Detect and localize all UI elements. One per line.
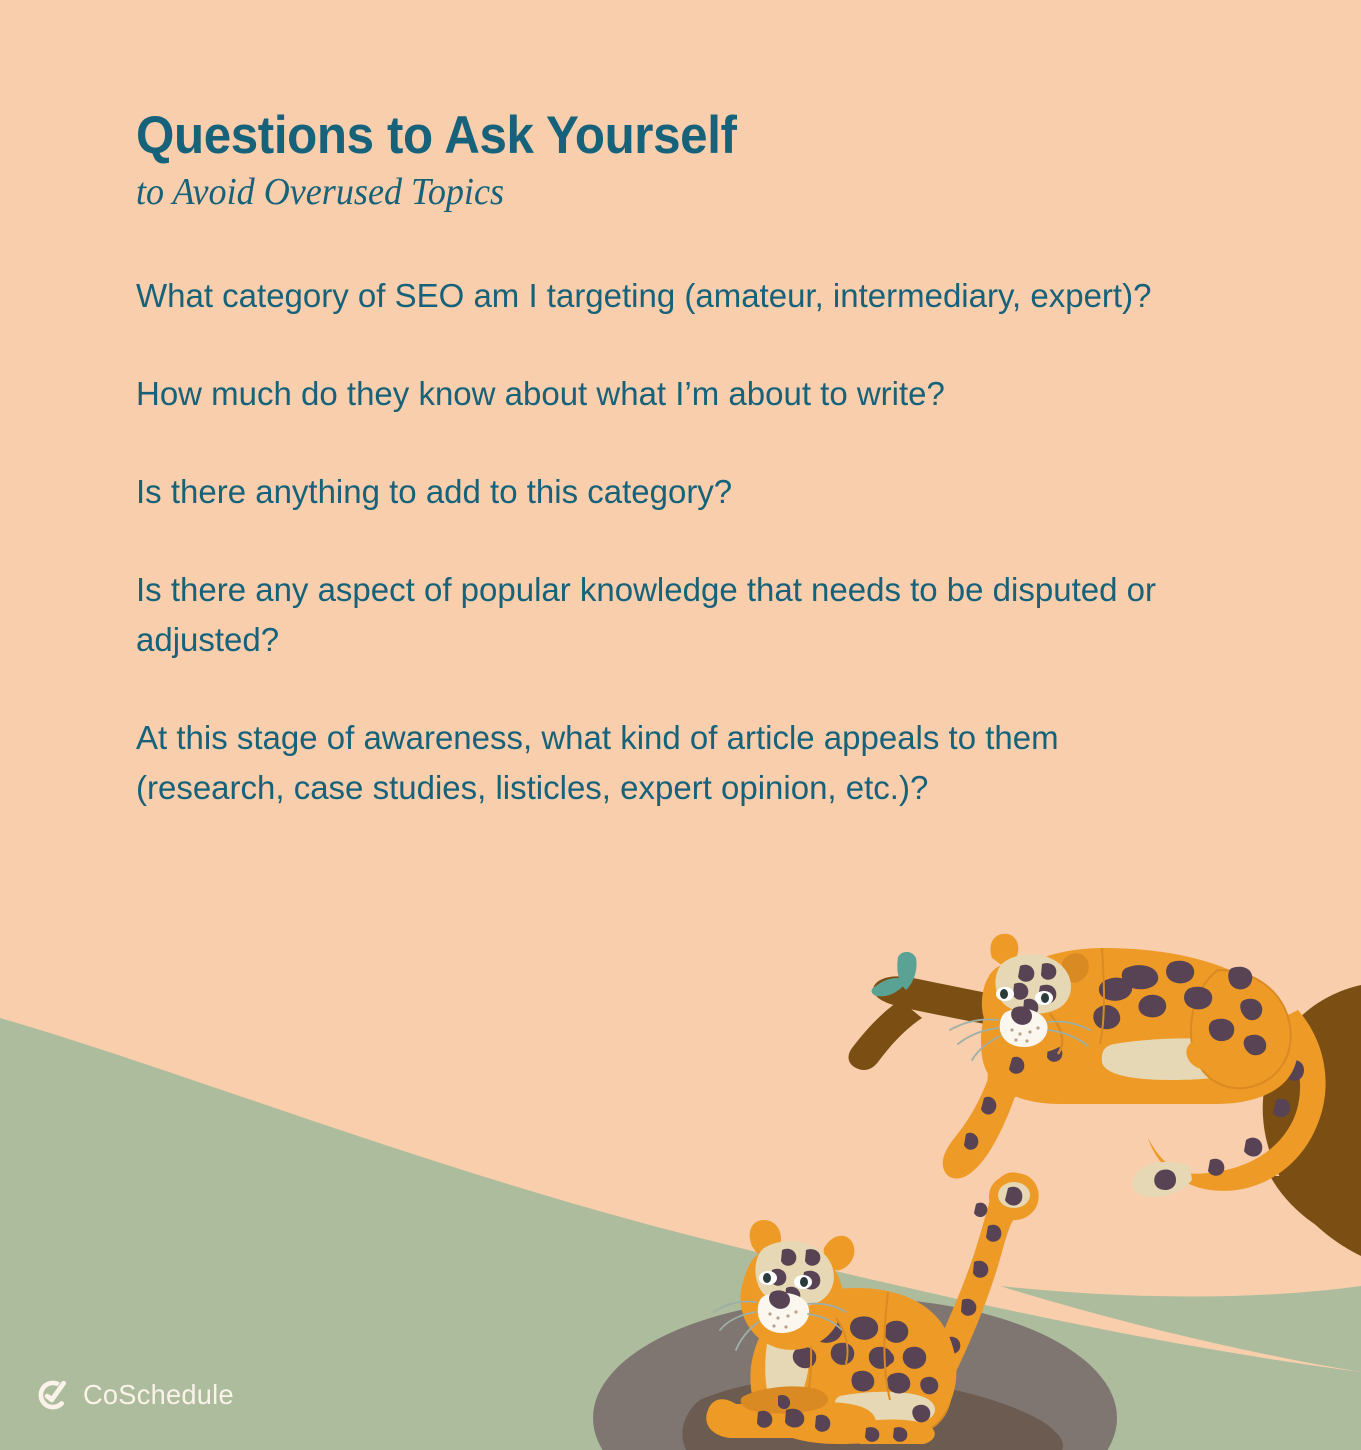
questions-list: What category of SEO am I targeting (ama…: [136, 272, 1198, 814]
poster-canvas: Questions to Ask Yourself to Avoid Overu…: [0, 0, 1361, 1450]
question-item: Is there any aspect of popular knowledge…: [136, 566, 1182, 666]
page-title: Questions to Ask Yourself: [136, 108, 1066, 164]
coschedule-logo[interactable]: CoSchedule: [36, 1378, 239, 1412]
question-item: At this stage of awareness, what kind of…: [136, 714, 1182, 814]
coschedule-check-circle-icon: [36, 1378, 70, 1412]
page-subtitle: to Avoid Overused Topics: [136, 172, 1086, 214]
question-item: How much do they know about what I’m abo…: [136, 370, 1182, 420]
coschedule-wordmark: CoSchedule: [83, 1379, 234, 1411]
question-item: What category of SEO am I targeting (ama…: [136, 272, 1182, 322]
header-block: Questions to Ask Yourself to Avoid Overu…: [136, 108, 1136, 214]
question-item: Is there anything to add to this categor…: [136, 468, 1182, 518]
